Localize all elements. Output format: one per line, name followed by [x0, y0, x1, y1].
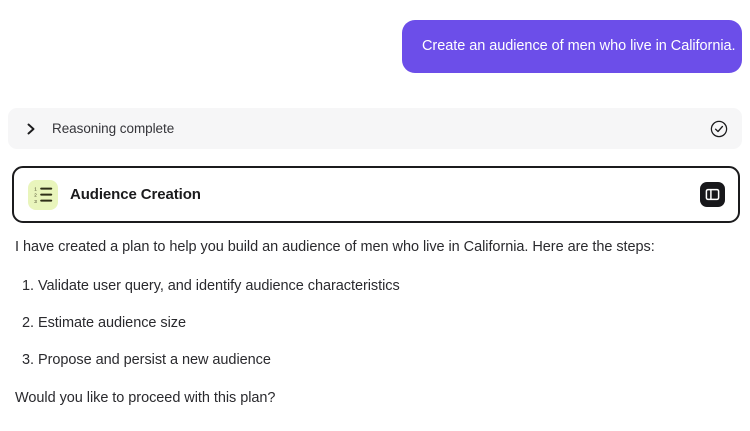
user-message-row: Create an audience of men who live in Ca…: [0, 20, 742, 73]
reasoning-toggle-bar[interactable]: Reasoning complete: [8, 108, 742, 149]
plan-step-text: Validate user query, and identify audien…: [38, 278, 400, 294]
plan-step-item: 1. Validate user query, and identify aud…: [15, 277, 735, 296]
panel-toggle-button[interactable]: [700, 182, 725, 207]
svg-text:1: 1: [34, 186, 37, 191]
user-message-bubble: Create an audience of men who live in Ca…: [402, 20, 742, 73]
reasoning-status-label: Reasoning complete: [52, 121, 710, 136]
chevron-right-icon[interactable]: [24, 122, 38, 136]
assistant-intro-text: I have created a plan to help you build …: [15, 238, 735, 257]
plan-step-text: Estimate audience size: [38, 315, 186, 331]
plan-step-item: 3. Propose and persist a new audience: [15, 351, 735, 370]
check-circle-icon: [710, 120, 728, 138]
assistant-message: I have created a plan to help you build …: [15, 238, 735, 408]
svg-text:3: 3: [34, 199, 37, 204]
ordered-list-icon: 1 2 3: [34, 185, 53, 204]
task-card-audience-creation[interactable]: 1 2 3 Audience Creation: [12, 166, 740, 223]
plan-step-number: 3.: [22, 352, 38, 368]
task-card-title: Audience Creation: [70, 186, 700, 203]
plan-steps-list: 1. Validate user query, and identify aud…: [15, 277, 735, 370]
ordered-list-icon-badge: 1 2 3: [28, 180, 58, 210]
plan-step-text: Propose and persist a new audience: [38, 352, 271, 368]
chat-page: Create an audience of men who live in Ca…: [0, 0, 750, 431]
plan-step-item: 2. Estimate audience size: [15, 314, 735, 333]
assistant-outro-text: Would you like to proceed with this plan…: [15, 389, 735, 408]
plan-step-number: 2.: [22, 315, 38, 331]
svg-text:2: 2: [34, 193, 37, 198]
panel-left-icon: [705, 187, 720, 202]
plan-step-number: 1.: [22, 278, 38, 294]
